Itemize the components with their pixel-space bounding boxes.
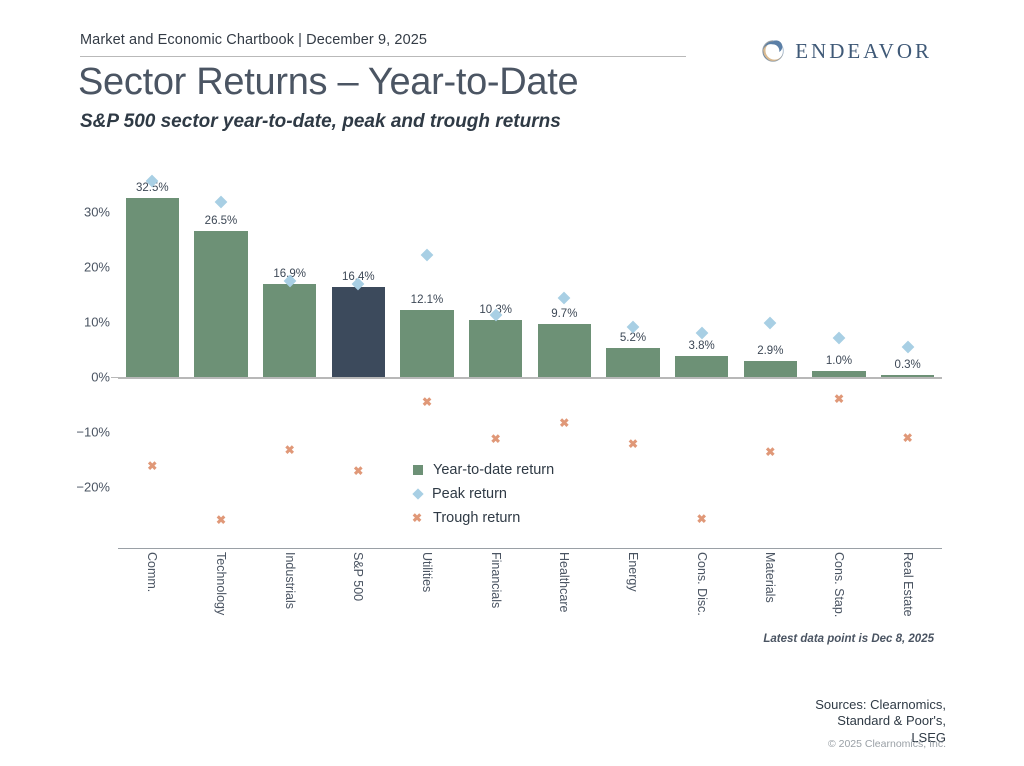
bar-group[interactable]: 3.8%✖ <box>667 160 736 550</box>
bar[interactable] <box>400 310 454 377</box>
trough-marker[interactable]: ✖ <box>697 513 707 525</box>
bar[interactable] <box>194 231 248 377</box>
trough-marker[interactable]: ✖ <box>628 438 638 450</box>
category-label: Cons. Stap. <box>832 552 846 617</box>
peak-marker[interactable] <box>833 332 846 345</box>
trough-marker[interactable]: ✖ <box>491 433 501 445</box>
sources-line-1: Sources: Clearnomics, <box>815 697 946 713</box>
trough-marker[interactable]: ✖ <box>834 393 844 405</box>
y-axis-tick-label: 10% <box>84 314 110 329</box>
category-label: Financials <box>489 552 503 608</box>
y-axis-tick-label: 20% <box>84 259 110 274</box>
chart-legend: Year-to-date return Peak return ✖ Trough… <box>411 458 554 530</box>
legend-label-ytd: Year-to-date return <box>433 462 554 478</box>
trough-marker[interactable]: ✖ <box>903 432 913 444</box>
bar-group[interactable]: 5.2%✖ <box>599 160 668 550</box>
bar-value-label: 5.2% <box>599 332 668 344</box>
bar-group[interactable]: 0.3%✖ <box>873 160 942 550</box>
bar[interactable] <box>332 287 386 377</box>
bar-value-label: 26.5% <box>187 215 256 227</box>
y-axis-tick-label: 30% <box>84 204 110 219</box>
bar-value-label: 1.0% <box>805 355 874 367</box>
sources-line-2: Standard & Poor's, <box>815 713 946 729</box>
y-axis-tick-label: −10% <box>76 425 110 440</box>
bar[interactable] <box>606 348 660 377</box>
peak-marker[interactable] <box>558 292 571 305</box>
peak-marker[interactable] <box>215 195 228 208</box>
trough-marker[interactable]: ✖ <box>422 396 432 408</box>
category-label: Cons. Disc. <box>695 552 709 616</box>
bar-value-label: 3.8% <box>667 340 736 352</box>
category-label: Healthcare <box>557 552 571 612</box>
peak-marker[interactable] <box>695 327 708 340</box>
legend-square-icon <box>413 465 423 475</box>
bar-group[interactable]: 32.5%✖ <box>118 160 187 550</box>
bar-group[interactable]: 1.0%✖ <box>805 160 874 550</box>
category-label: Materials <box>763 552 777 603</box>
y-axis-tick-mark <box>111 377 118 378</box>
category-label: Real Estate <box>901 552 915 617</box>
bar[interactable] <box>538 324 592 377</box>
category-label: Energy <box>626 552 640 592</box>
bar[interactable] <box>126 198 180 377</box>
peak-marker[interactable] <box>627 320 640 333</box>
bar-group[interactable]: 16.9%✖ <box>255 160 324 550</box>
trough-marker[interactable]: ✖ <box>147 460 157 472</box>
peak-marker[interactable] <box>901 341 914 354</box>
category-label: Industrials <box>283 552 297 609</box>
trough-marker[interactable]: ✖ <box>559 417 569 429</box>
legend-item-peak: Peak return <box>411 482 554 506</box>
trough-marker[interactable]: ✖ <box>353 465 363 477</box>
bar[interactable] <box>744 361 798 377</box>
category-label: Utilities <box>420 552 434 592</box>
legend-label-trough: Trough return <box>433 510 520 526</box>
legend-diamond-icon <box>412 488 423 499</box>
category-label: S&P 500 <box>351 552 365 601</box>
legend-item-ytd: Year-to-date return <box>411 458 554 482</box>
bar-group[interactable]: 16.4%✖ <box>324 160 393 550</box>
legend-item-trough: ✖ Trough return <box>411 506 554 530</box>
y-axis-tick-label: 0% <box>91 370 110 385</box>
bar[interactable] <box>675 356 729 377</box>
legend-label-peak: Peak return <box>432 486 507 502</box>
y-axis-tick-label: −20% <box>76 480 110 495</box>
category-axis-line <box>118 548 942 549</box>
bar[interactable] <box>469 320 523 377</box>
category-label: Comm. <box>145 552 159 592</box>
bar-value-label: 0.3% <box>873 359 942 371</box>
trough-marker[interactable]: ✖ <box>765 446 775 458</box>
legend-cross-icon: ✖ <box>411 512 423 524</box>
trough-marker[interactable]: ✖ <box>216 514 226 526</box>
slide: Market and Economic Chartbook | December… <box>0 0 1024 766</box>
peak-marker[interactable] <box>764 317 777 330</box>
bar[interactable] <box>812 371 866 377</box>
bar-value-label: 2.9% <box>736 345 805 357</box>
peak-marker[interactable] <box>421 249 434 262</box>
bar-group[interactable]: 26.5%✖ <box>187 160 256 550</box>
bar-value-label: 12.1% <box>393 294 462 306</box>
latest-data-note: Latest data point is Dec 8, 2025 <box>763 633 934 645</box>
bar-group[interactable]: 2.9%✖ <box>736 160 805 550</box>
copyright-note: © 2025 Clearnomics, Inc. <box>828 738 946 750</box>
bar-value-label: 9.7% <box>530 308 599 320</box>
bar[interactable] <box>881 375 935 377</box>
trough-marker[interactable]: ✖ <box>285 444 295 456</box>
bar[interactable] <box>263 284 317 377</box>
category-label: Technology <box>214 552 228 615</box>
sector-returns-chart: 30%20%10%0%−10%−20% 32.5%✖26.5%✖16.9%✖16… <box>0 0 1024 766</box>
